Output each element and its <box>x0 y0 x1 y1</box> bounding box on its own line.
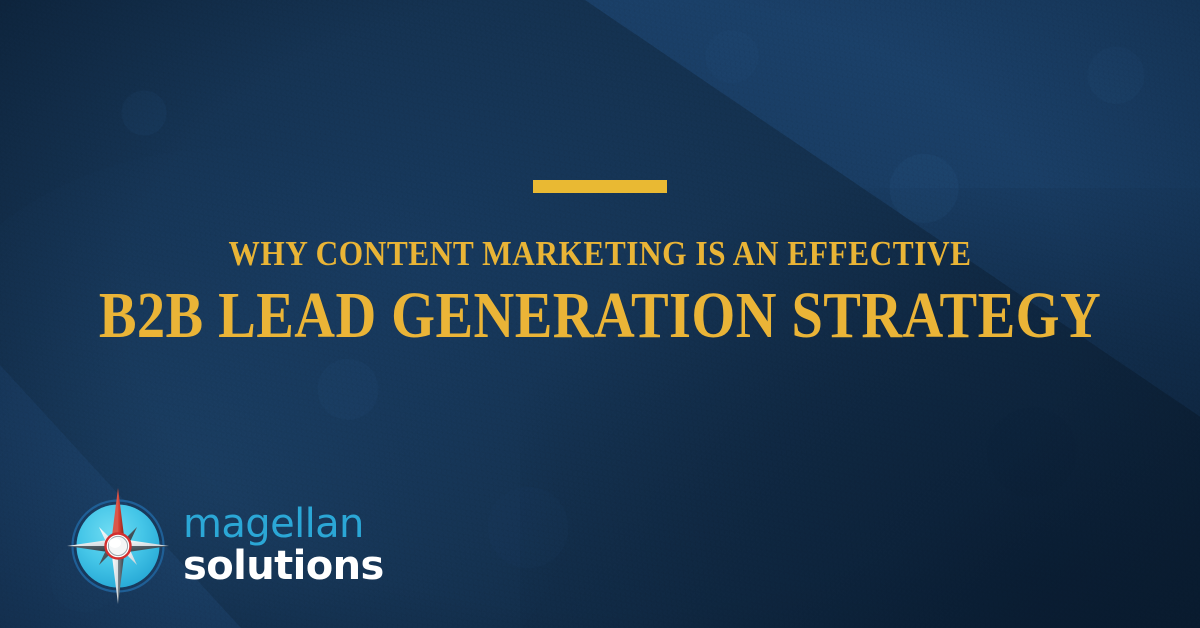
brand-logo[interactable]: magellan solutions <box>63 486 384 606</box>
title-line-2: B2B LEAD GENERATION STRATEGY <box>87 283 1113 349</box>
compass-rose-icon <box>63 486 173 606</box>
title-line-1: WHY CONTENT MARKETING IS AN EFFECTIVE <box>63 236 1137 271</box>
headline-block: WHY CONTENT MARKETING IS AN EFFECTIVE B2… <box>0 0 1200 349</box>
blog-banner: WHY CONTENT MARKETING IS AN EFFECTIVE B2… <box>0 0 1200 628</box>
logo-wordmark: magellan solutions <box>183 504 384 586</box>
logo-word-solutions: solutions <box>183 546 384 586</box>
logo-word-magellan: magellan <box>183 504 384 544</box>
gold-accent-bar <box>533 180 667 193</box>
